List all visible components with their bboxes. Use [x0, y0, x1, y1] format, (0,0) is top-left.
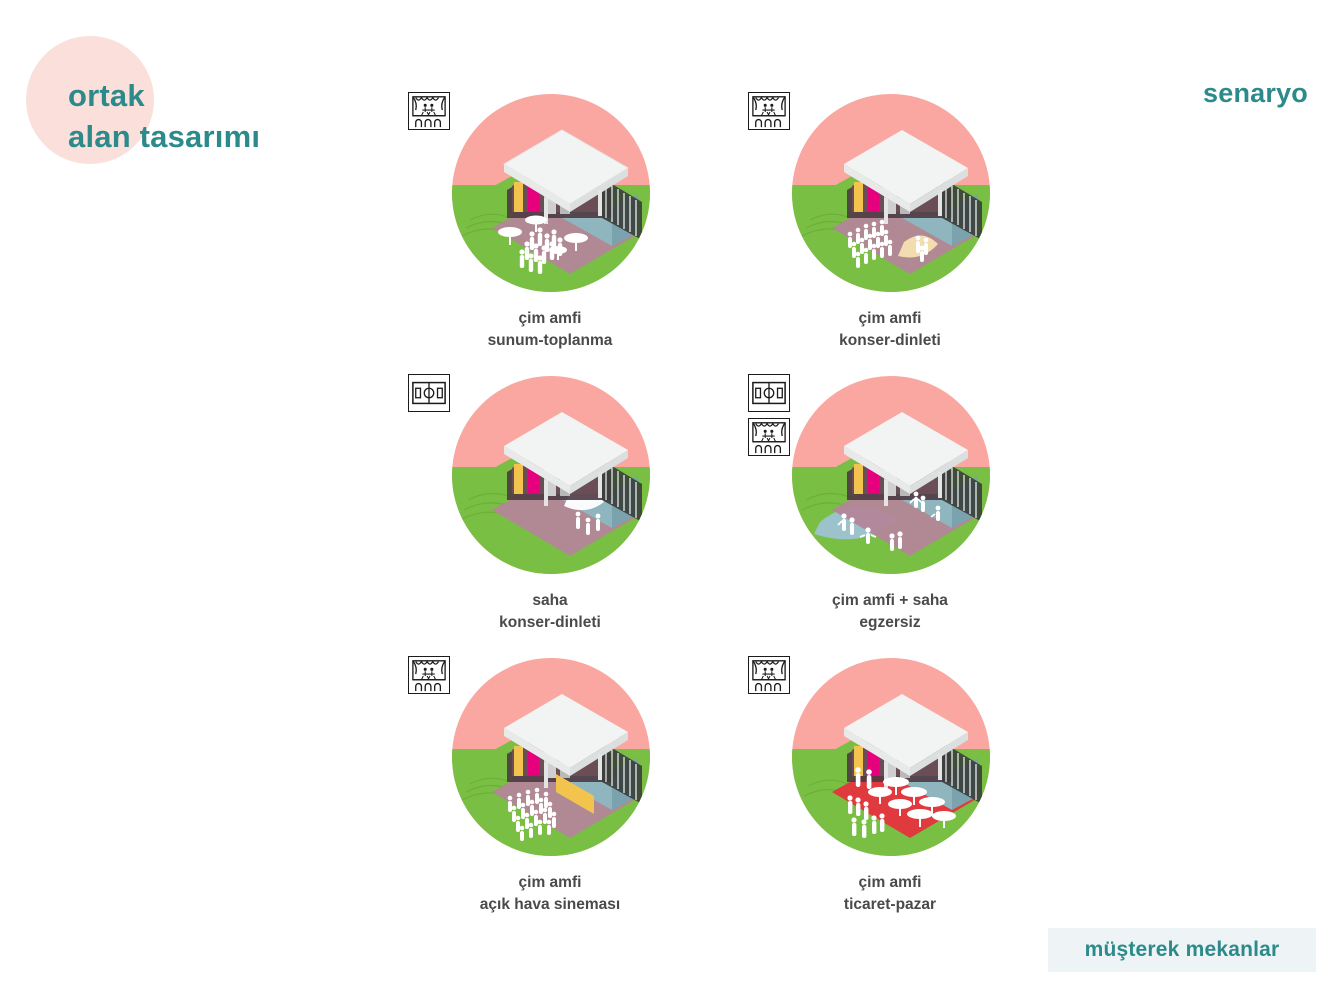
scene-circle: [452, 376, 650, 574]
scene-lawn-gathering: [452, 94, 650, 292]
scenario-card-cim-amfi-saha-egzersiz[interactable]: çim amfi + saha egzersiz: [720, 366, 1060, 634]
scenario-row: çim amfi açık hava sineması: [380, 648, 1060, 930]
scenario-icon-stack: [408, 656, 450, 694]
scenario-illustration: [380, 366, 720, 586]
pitch-icon: [748, 374, 790, 412]
stage-icon: [748, 92, 790, 130]
scenario-illustration: [720, 648, 1060, 868]
scenario-illustration: [380, 648, 720, 868]
scenario-caption: çim amfi konser-dinleti: [720, 308, 1060, 352]
scenario-grid: çim amfi sunum-toplanma: [380, 84, 1060, 930]
stage-icon: [748, 656, 790, 694]
scenario-row: çim amfi sunum-toplanma: [380, 84, 1060, 366]
scenario-icon-stack: [748, 374, 790, 456]
scene-circle: [792, 658, 990, 856]
scenario-card-cim-amfi-acik-hava-sinemasi[interactable]: çim amfi açık hava sineması: [380, 648, 720, 916]
footer-badge: müşterek mekanlar: [1048, 928, 1316, 972]
pitch-icon: [408, 374, 450, 412]
stage-icon: [748, 418, 790, 456]
scenario-icon-stack: [748, 656, 790, 694]
scene-circle: [792, 376, 990, 574]
scenario-illustration: [380, 84, 720, 304]
scenario-icon-stack: [408, 92, 450, 130]
page-title: ortak alan tasarımı: [68, 76, 260, 158]
scenario-caption: çim amfi ticaret-pazar: [720, 872, 1060, 916]
scene-court-exercise: [792, 376, 990, 574]
stage-icon: [408, 656, 450, 694]
scene-lawn-concert: [792, 94, 990, 292]
scenario-card-cim-amfi-konser-dinleti[interactable]: çim amfi konser-dinleti: [720, 84, 1060, 352]
scene-market: [792, 658, 990, 856]
footer-badge-label: müşterek mekanlar: [1085, 938, 1280, 962]
scene-circle: [792, 94, 990, 292]
scenario-caption: çim amfi + saha egzersiz: [720, 590, 1060, 634]
scenario-row: saha konser-dinleti: [380, 366, 1060, 648]
scenario-card-saha-konser-dinleti[interactable]: saha konser-dinleti: [380, 366, 720, 634]
scenario-caption: saha konser-dinleti: [380, 590, 720, 634]
scene-court-concert: [452, 376, 650, 574]
stage-icon: [408, 92, 450, 130]
scenario-illustration: [720, 84, 1060, 304]
scenario-card-cim-amfi-ticaret-pazar[interactable]: çim amfi ticaret-pazar: [720, 648, 1060, 916]
scenario-icon-stack: [408, 374, 450, 412]
scene-circle: [452, 658, 650, 856]
scene-circle: [452, 94, 650, 292]
scenario-corner-label: senaryo: [1203, 78, 1308, 109]
scenario-illustration: [720, 366, 1060, 586]
scenario-card-cim-amfi-sunum-toplanma[interactable]: çim amfi sunum-toplanma: [380, 84, 720, 352]
scenario-caption: çim amfi açık hava sineması: [380, 872, 720, 916]
scenario-caption: çim amfi sunum-toplanma: [380, 308, 720, 352]
scene-open-air-cinema: [452, 658, 650, 856]
scenario-icon-stack: [748, 92, 790, 130]
